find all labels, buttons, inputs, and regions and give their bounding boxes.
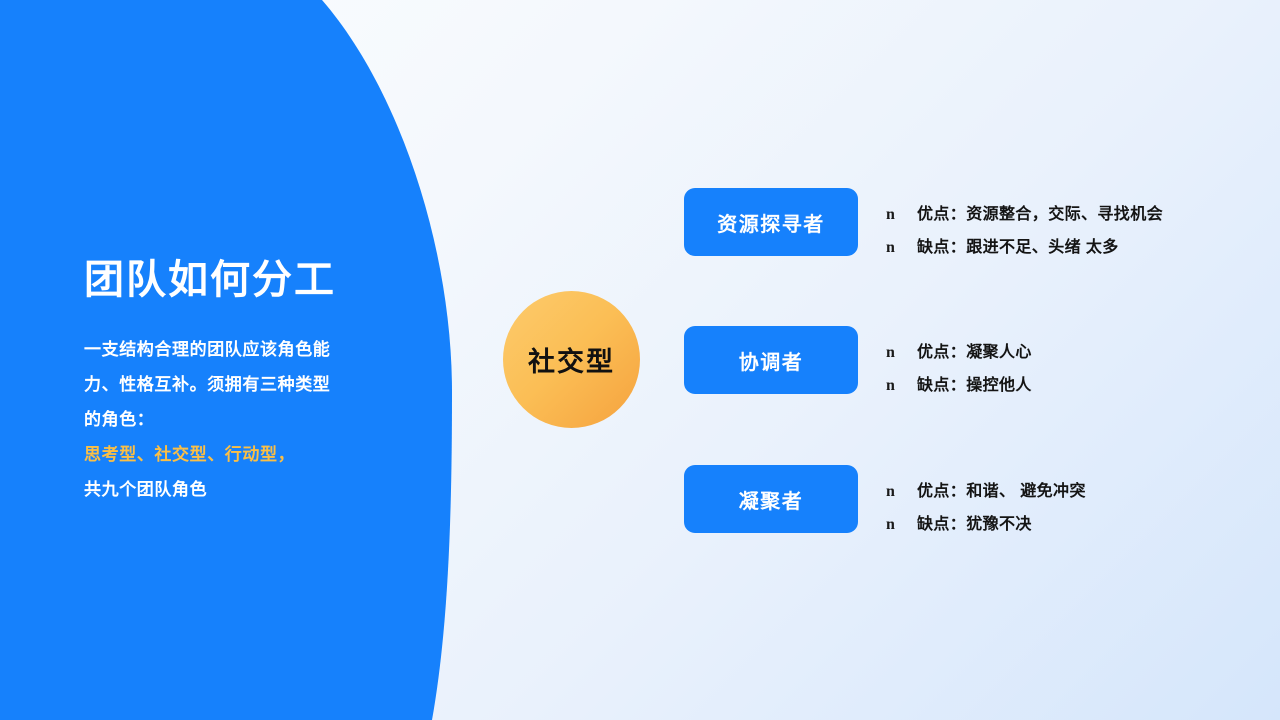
list-item: n 缺点：操控他人 bbox=[886, 371, 1244, 395]
role-row: 凝聚者 n 优点：和谐、 避免冲突 n 缺点：犹豫不决 bbox=[684, 465, 1244, 533]
point-text: 缺点：犹豫不决 bbox=[917, 510, 1032, 534]
page-title: 团队如何分工 bbox=[84, 258, 414, 302]
intro-paragraph: 一支结构合理的团队应该角色能 力、性格互补。须拥有三种类型 的角色： 思考型、社… bbox=[84, 332, 414, 507]
list-item: n 优点：资源整合，交际、寻找机会 bbox=[886, 200, 1244, 224]
role-points-list: n 优点：资源整合，交际、寻找机会 n 缺点：跟进不足、头绪 太多 bbox=[886, 188, 1244, 266]
point-text: 缺点：跟进不足、头绪 太多 bbox=[917, 233, 1119, 257]
list-item: n 缺点：犹豫不决 bbox=[886, 510, 1244, 534]
role-chip-resource-investigator[interactable]: 资源探寻者 bbox=[684, 188, 858, 256]
bullet-marker-icon: n bbox=[886, 206, 917, 224]
bullet-marker-icon: n bbox=[886, 483, 917, 501]
point-text: 优点：凝聚人心 bbox=[917, 338, 1032, 362]
intro-line-3: 的角色： bbox=[84, 402, 414, 437]
point-text: 优点：资源整合，交际、寻找机会 bbox=[917, 200, 1163, 224]
intro-accent-line: 思考型、社交型、行动型， bbox=[84, 437, 414, 472]
list-item: n 缺点：跟进不足、头绪 太多 bbox=[886, 233, 1244, 257]
role-points-list: n 优点：凝聚人心 n 缺点：操控他人 bbox=[886, 326, 1244, 404]
point-text: 优点：和谐、 避免冲突 bbox=[917, 477, 1086, 501]
left-text-column: 团队如何分工 一支结构合理的团队应该角色能 力、性格互补。须拥有三种类型 的角色… bbox=[84, 258, 414, 507]
list-item: n 优点：凝聚人心 bbox=[886, 338, 1244, 362]
intro-line-2: 力、性格互补。须拥有三种类型 bbox=[84, 367, 414, 402]
intro-line-last: 共九个团队角色 bbox=[84, 472, 414, 507]
category-circle: 社交型 bbox=[503, 291, 640, 428]
role-chip-teamworker[interactable]: 凝聚者 bbox=[684, 465, 858, 533]
list-item: n 优点：和谐、 避免冲突 bbox=[886, 477, 1244, 501]
role-points-list: n 优点：和谐、 避免冲突 n 缺点：犹豫不决 bbox=[886, 465, 1244, 543]
role-chip-label: 资源探寻者 bbox=[717, 208, 825, 237]
intro-line-1: 一支结构合理的团队应该角色能 bbox=[84, 332, 414, 367]
bullet-marker-icon: n bbox=[886, 239, 917, 257]
role-chip-coordinator[interactable]: 协调者 bbox=[684, 326, 858, 394]
role-row: 资源探寻者 n 优点：资源整合，交际、寻找机会 n 缺点：跟进不足、头绪 太多 bbox=[684, 188, 1244, 256]
role-chip-label: 协调者 bbox=[739, 346, 804, 375]
role-chip-label: 凝聚者 bbox=[739, 485, 804, 514]
point-text: 缺点：操控他人 bbox=[917, 371, 1032, 395]
category-circle-label: 社交型 bbox=[528, 340, 615, 379]
bullet-marker-icon: n bbox=[886, 344, 917, 362]
role-row: 协调者 n 优点：凝聚人心 n 缺点：操控他人 bbox=[684, 326, 1244, 394]
slide-canvas: 团队如何分工 一支结构合理的团队应该角色能 力、性格互补。须拥有三种类型 的角色… bbox=[0, 0, 1280, 720]
bullet-marker-icon: n bbox=[886, 377, 917, 395]
bullet-marker-icon: n bbox=[886, 516, 917, 534]
